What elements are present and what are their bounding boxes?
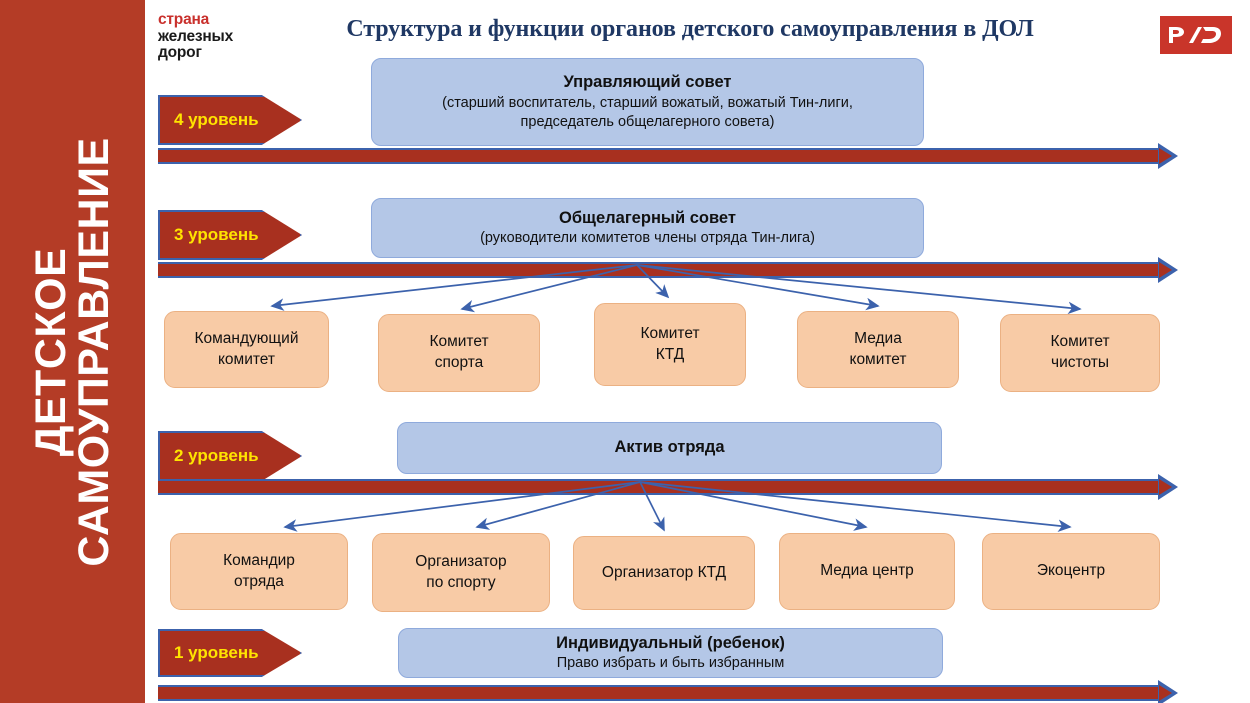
level-3-box-subtitle: (руководители комитетов члены отряда Тин… xyxy=(480,229,815,248)
sidebar-banner: ДЕТСКОЕ САМОУПРАВЛЕНИЕ xyxy=(0,0,145,703)
squad-role-box-4[interactable]: Медиа центр xyxy=(779,533,955,610)
level-1-rail-arrowhead-icon xyxy=(1158,680,1178,703)
level-4-rail xyxy=(158,148,1158,164)
committee-box-4[interactable]: Медиа комитет xyxy=(797,311,959,388)
level-2-rail-arrowhead-icon xyxy=(1158,474,1178,500)
level-1-box-subtitle: Право избрать и быть избранным xyxy=(557,654,785,673)
committee-box-2-line2: спорта xyxy=(429,353,488,374)
brand-logo-strana-zheleznyh-dorog: страна железных дорог xyxy=(158,12,233,62)
squad-role-box-1-line1: Командир xyxy=(223,551,295,572)
committee-box-1[interactable]: Командующий комитет xyxy=(164,311,329,388)
squad-role-box-3[interactable]: Организатор КТД xyxy=(573,536,755,610)
level-1-label: 1 уровень xyxy=(174,643,259,663)
level-4-box-upravlyayushchiy-sovet[interactable]: Управляющий совет (старший воспитатель, … xyxy=(371,58,924,146)
level-4-box-subtitle-line2: председатель общелагерного совета) xyxy=(521,113,775,132)
level-1-chevron[interactable]: 1 уровень xyxy=(158,629,302,677)
level-2-box-title: Актив отряда xyxy=(614,437,724,458)
committee-box-1-line1: Командующий xyxy=(195,329,299,350)
squad-role-box-3-line1: Организатор КТД xyxy=(602,563,726,584)
committee-box-3-line2: КТД xyxy=(640,345,699,366)
rzd-glyph-icon xyxy=(1167,23,1225,47)
committee-box-5[interactable]: Комитет чистоты xyxy=(1000,314,1160,392)
logo-line-zheleznyh: железных xyxy=(158,29,233,46)
committee-box-5-line2: чистоты xyxy=(1050,353,1109,374)
level-4-chevron[interactable]: 4 уровень xyxy=(158,95,302,145)
level-2-label: 2 уровень xyxy=(174,446,259,466)
level-2-rail xyxy=(158,479,1158,495)
level-3-box-obshchelagerny-sovet[interactable]: Общелагерный совет (руководители комитет… xyxy=(371,198,924,258)
level-1-box-individualny-rebenok[interactable]: Индивидуальный (ребенок) Право избрать и… xyxy=(398,628,943,678)
level-3-chevron[interactable]: 3 уровень xyxy=(158,210,302,260)
committee-box-3-line1: Комитет xyxy=(640,324,699,345)
level-1-rail xyxy=(158,685,1158,701)
squad-role-box-4-line1: Медиа центр xyxy=(820,561,914,582)
squad-role-box-2-line2: по спорту xyxy=(415,573,506,594)
committee-box-4-line1: Медиа xyxy=(849,329,906,350)
level-3-rail-arrowhead-icon xyxy=(1158,257,1178,283)
level-4-rail-arrowhead-icon xyxy=(1158,143,1178,169)
squad-role-box-1[interactable]: Командир отряда xyxy=(170,533,348,610)
level-1-box-title: Индивидуальный (ребенок) xyxy=(556,633,785,654)
logo-line-dorog: дорог xyxy=(158,45,233,62)
level-4-box-title: Управляющий совет xyxy=(564,72,732,93)
committee-box-4-line2: комитет xyxy=(849,350,906,371)
squad-role-box-2[interactable]: Организатор по спорту xyxy=(372,533,550,612)
page-title: Структура и функции органов детского сам… xyxy=(290,16,1090,43)
rzd-logo xyxy=(1160,16,1232,54)
sidebar-vertical-title: ДЕТСКОЕ САМОУПРАВЛЕНИЕ xyxy=(30,137,116,566)
level-3-box-title: Общелагерный совет xyxy=(559,208,736,229)
level-3-rail xyxy=(158,262,1158,278)
level-2-chevron[interactable]: 2 уровень xyxy=(158,431,302,481)
squad-role-box-1-line2: отряда xyxy=(223,572,295,593)
committee-box-2-line1: Комитет xyxy=(429,332,488,353)
level-4-label: 4 уровень xyxy=(174,110,259,130)
committee-box-3[interactable]: Комитет КТД xyxy=(594,303,746,386)
squad-role-box-2-line1: Организатор xyxy=(415,552,506,573)
sidebar-title-line1: ДЕТСКОЕ xyxy=(30,137,73,566)
squad-role-box-5[interactable]: Экоцентр xyxy=(982,533,1160,610)
committee-box-2[interactable]: Комитет спорта xyxy=(378,314,540,392)
squad-role-box-5-line1: Экоцентр xyxy=(1037,561,1105,582)
level-3-label: 3 уровень xyxy=(174,225,259,245)
committee-box-1-line2: комитет xyxy=(195,350,299,371)
slide-canvas: ДЕТСКОЕ САМОУПРАВЛЕНИЕ страна железных д… xyxy=(0,0,1250,703)
level-4-box-subtitle-line1: (старший воспитатель, старший вожатый, в… xyxy=(442,94,853,113)
logo-line-strana: страна xyxy=(158,12,233,29)
sidebar-title-line2: САМОУПРАВЛЕНИЕ xyxy=(73,137,116,566)
committee-box-5-line1: Комитет xyxy=(1050,332,1109,353)
level-2-box-aktiv-otryada[interactable]: Актив отряда xyxy=(397,422,942,474)
